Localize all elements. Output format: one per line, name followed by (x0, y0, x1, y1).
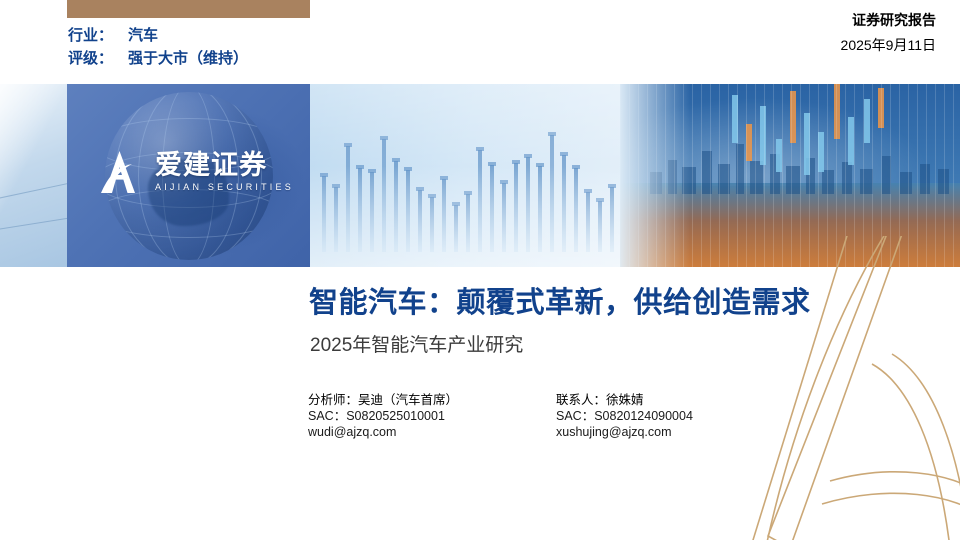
banner-logo-panel: 爱建证券 AIJIAN SECURITIES (67, 84, 310, 267)
report-cover-page: 行业： 汽车 评级： 强于大市（维持） 证券研究报告 2025年9月11日 (0, 0, 960, 540)
contact-sac: SAC：S0820124090004 (556, 408, 804, 424)
banner-bar-chart-graphic (310, 84, 630, 267)
rating-label: 评级： (68, 47, 122, 70)
contact-associate: 联系人：徐姝婧 SAC：S0820124090004 xushujing@ajz… (556, 392, 804, 440)
report-meta-block: 行业： 汽车 评级： 强于大市（维持） (68, 24, 388, 70)
report-date-label: 2025年9月11日 (841, 34, 936, 56)
contact-analyst: 分析师：吴迪（汽车首席） SAC：S0820525010001 wudi@ajz… (308, 392, 556, 440)
contact-name: 联系人：徐姝婧 (556, 392, 804, 408)
logo-name-en: AIJIAN SECURITIES (155, 183, 294, 192)
page-subtitle: 2025年智能汽车产业研究 (310, 330, 523, 357)
logo-name-cn: 爱建证券 (155, 152, 294, 179)
banner-left-chart-photo (0, 84, 70, 267)
industry-label: 行业： (68, 24, 122, 47)
industry-row: 行业： 汽车 (68, 24, 388, 47)
rating-row: 评级： 强于大市（维持） (68, 47, 388, 70)
report-kind-label: 证券研究报告 (841, 10, 936, 30)
contact-sac: SAC：S0820525010001 (308, 408, 556, 424)
industry-value: 汽车 (122, 24, 158, 47)
report-type-block: 证券研究报告 2025年9月11日 (841, 10, 936, 56)
rating-value: 强于大市（维持） (122, 47, 248, 70)
aijian-a-mark-icon (95, 148, 145, 196)
banner-center-overlay (310, 84, 630, 267)
cityscape-left-fade (620, 84, 690, 267)
contact-email[interactable]: wudi@ajzq.com (308, 424, 556, 440)
page-title: 智能汽车：颠覆式革新，供给创造需求 (309, 279, 811, 321)
top-accent-bar (67, 0, 310, 18)
contacts-block: 分析师：吴迪（汽车首席） SAC：S0820525010001 wudi@ajz… (308, 392, 804, 440)
banner-cityscape-graphic (620, 84, 960, 267)
contact-email[interactable]: xushujing@ajzq.com (556, 424, 804, 440)
company-logo: 爱建证券 AIJIAN SECURITIES (95, 148, 294, 196)
contact-name: 分析师：吴迪（汽车首席） (308, 392, 556, 408)
cover-banner-image: 爱建证券 AIJIAN SECURITIES (0, 84, 960, 267)
